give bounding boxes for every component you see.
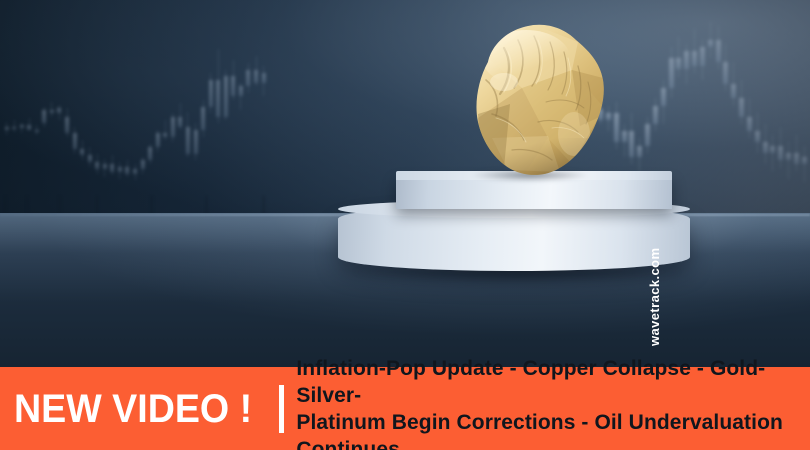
banner-subtitle-line-2: Platinum Begin Corrections - Oil Underva… [296, 409, 800, 450]
banner-subtitle-line-1: Inflation-Pop Update - Copper Collapse -… [296, 355, 800, 409]
gold-nugget-icon [452, 18, 610, 180]
bottom-banner: NEW VIDEO ! Inflation-Pop Update - Coppe… [0, 367, 810, 450]
new-video-badge: NEW VIDEO ! [14, 389, 252, 429]
watermark-wavetrack: wavetrack.com [646, 246, 664, 348]
banner-subtitle: Inflation-Pop Update - Copper Collapse -… [296, 355, 810, 450]
thumbnail-canvas: COMMODITIES wavetrack.com NEW VIDEO ! In… [0, 0, 810, 450]
banner-badge-group: NEW VIDEO ! [0, 389, 267, 429]
banner-divider [279, 385, 284, 433]
headline-region: COMMODITIES [0, 222, 810, 369]
